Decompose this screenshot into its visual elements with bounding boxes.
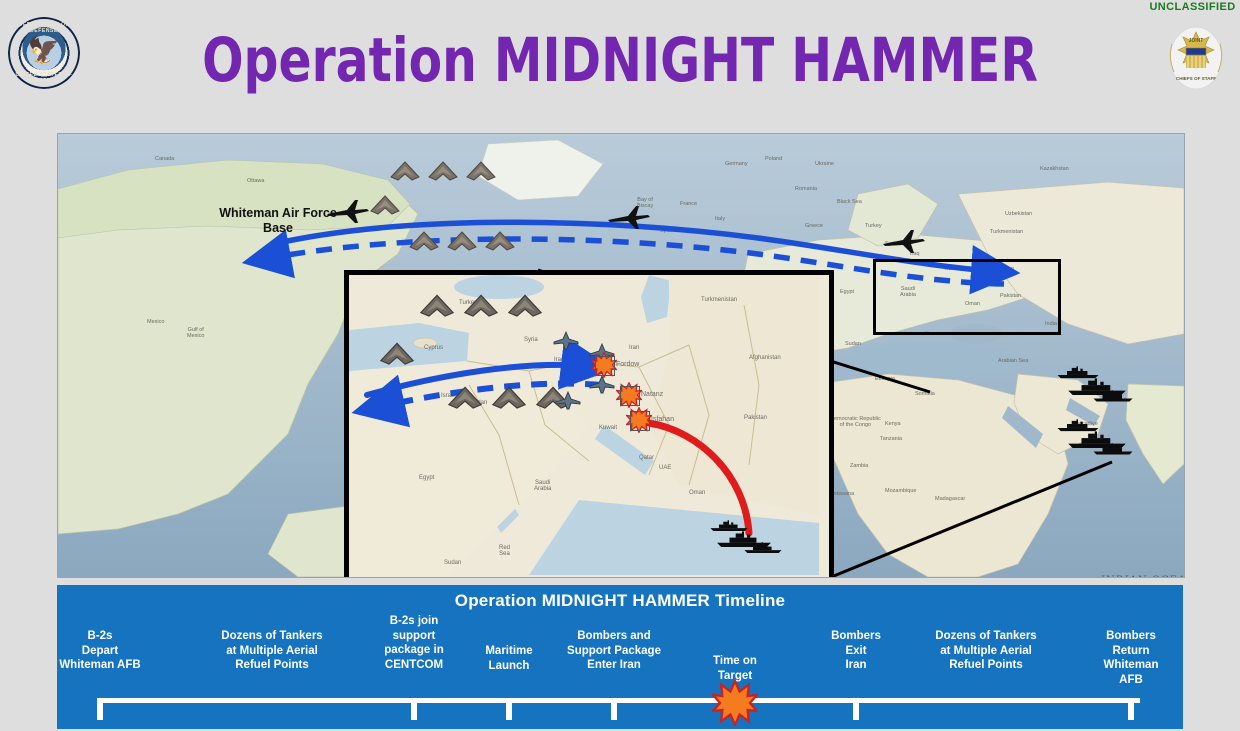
timeline-label-depart: B-2s Depart Whiteman AFB <box>59 629 140 673</box>
page-title: Operation MIDNIGHT HAMMER <box>124 24 1116 98</box>
svg-text:JOINT: JOINT <box>1189 38 1204 44</box>
tanker-aircraft-icon-2 <box>606 202 652 232</box>
joint-chiefs-of-staff-seal: JOINT CHIEFS OF STAFF <box>1162 18 1230 94</box>
dod-seal-bottom-text: UNITED STATES OF AMERICA <box>8 72 80 84</box>
time-on-target-explosion-icon <box>712 680 758 726</box>
target-natanz-marker-box <box>620 386 640 406</box>
eagle-icon: 🦅 <box>28 37 60 63</box>
target-isfahan-label: Isfahan <box>651 416 674 423</box>
dod-seal-top-text: DEPARTMENT OF DEFENSE <box>8 22 80 34</box>
timeline-tick-return <box>1128 698 1134 720</box>
timeline-label-exit-iran: Bombers Exit Iran <box>831 629 881 673</box>
naval-ship-icon <box>743 542 783 554</box>
naval-ship-icon <box>1092 443 1134 456</box>
timeline-label-maritime: Maritime Launch <box>485 644 532 673</box>
operation-map: NORTH ATLANTIC OCEANINDIAN OCEANCanadaOt… <box>57 133 1185 578</box>
target-isfahan-marker-box <box>630 411 650 431</box>
timeline-label-enter-iran: Bombers and Support Package Enter Iran <box>567 629 661 673</box>
timeline-axis <box>100 698 1140 703</box>
timeline-label-join-package: B-2s join support package in CENTCOM <box>384 614 443 672</box>
classification-banner: UNCLASSIFIED <box>1145 1 1240 13</box>
timeline-tick-exit-iran <box>853 698 859 720</box>
operation-timeline: Operation MIDNIGHT HAMMER Timeline B-2s … <box>57 585 1183 729</box>
timeline-label-return: Bombers Return Whiteman AFB <box>1104 629 1159 687</box>
whiteman-afb-label: Whiteman Air Force Base <box>213 206 343 236</box>
naval-ship-icon <box>1092 390 1134 403</box>
middle-east-inset-map: TurkeySyriaIraqIranTurkmenistanAfghanist… <box>344 270 834 578</box>
inset-callout-box <box>873 259 1061 335</box>
timeline-tick-enter-iran <box>611 698 617 720</box>
target-fordow-label: Fordow <box>616 361 639 368</box>
timeline-label-refuel-out: Dozens of Tankers at Multiple Aerial Ref… <box>221 629 322 673</box>
timeline-title: Operation MIDNIGHT HAMMER Timeline <box>57 591 1183 611</box>
target-fordow-marker-box <box>595 356 615 376</box>
svg-text:CHIEFS OF STAFF: CHIEFS OF STAFF <box>1176 76 1216 81</box>
tanker-aircraft-icon-3 <box>881 226 927 256</box>
dod-seal: DEPARTMENT OF DEFENSE UNITED STATES OF A… <box>8 17 80 89</box>
timeline-tick-join-package <box>411 698 417 720</box>
target-natanz-label: Natanz <box>641 391 663 398</box>
timeline-label-time-on-target: Time on Target <box>713 654 757 683</box>
timeline-label-refuel-back: Dozens of Tankers at Multiple Aerial Ref… <box>935 629 1036 673</box>
timeline-tick-maritime <box>506 698 512 720</box>
timeline-tick-depart <box>97 698 103 720</box>
